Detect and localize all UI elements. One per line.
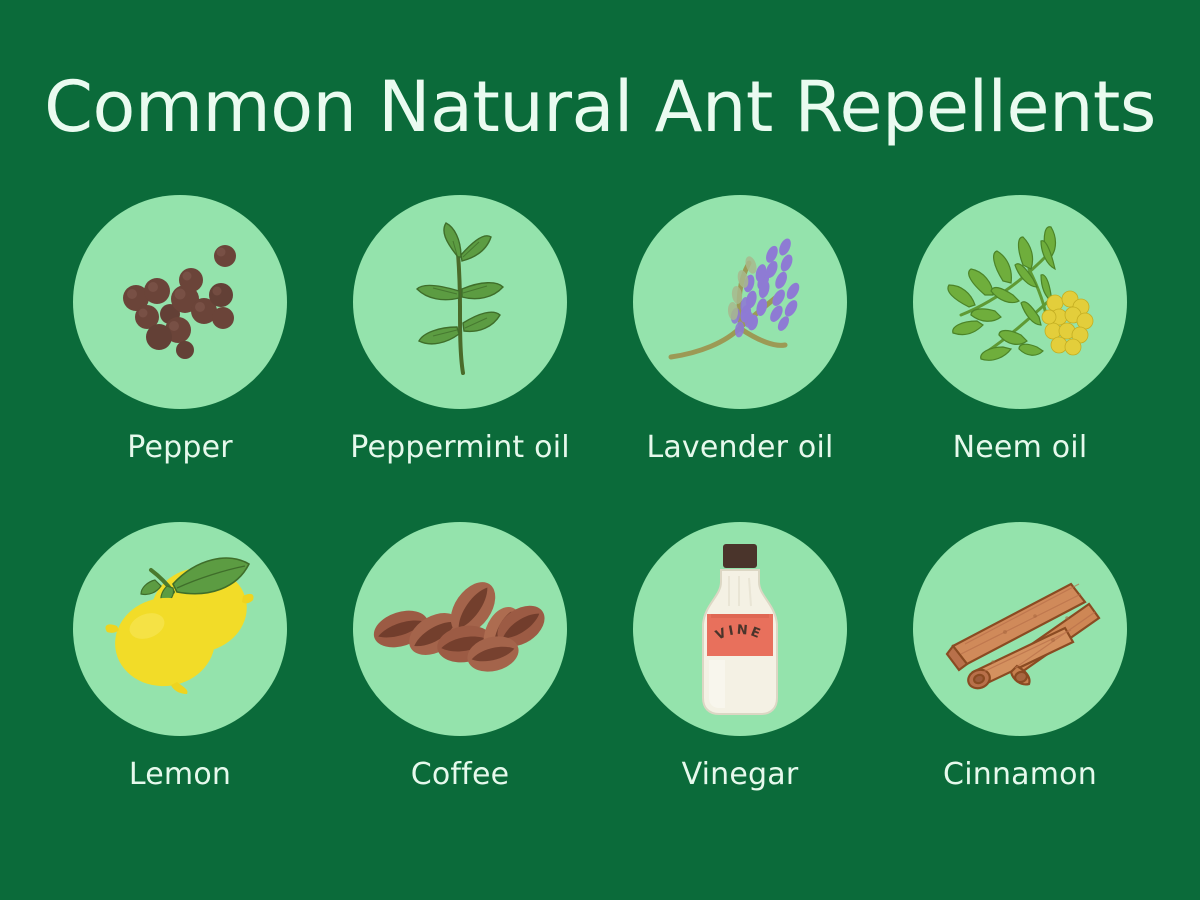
cinnamon-sticks-icon [913,522,1127,736]
repellent-card-pepper[interactable]: Pepper [72,195,288,464]
repellent-card-vinegar[interactable]: VINEGAR Vinegar [632,522,848,791]
repellent-card-peppermint-oil[interactable]: Peppermint oil [352,195,568,464]
mint-sprig-icon [353,195,567,409]
repellent-card-cinnamon[interactable]: Cinnamon [912,522,1128,791]
row-spacer [0,478,1200,522]
repellent-label: Cinnamon [943,758,1097,791]
icon-circle-vinegar: VINEGAR [633,522,847,736]
lemons-icon [73,522,287,736]
coffee-beans-icon [353,522,567,736]
repellent-card-lemon[interactable]: Lemon [72,522,288,791]
repellent-label: Lavender oil [646,431,833,464]
repellent-label: Vinegar [682,758,799,791]
repellent-label: Coffee [411,758,510,791]
icon-circle-coffee [353,522,567,736]
repellent-label: Pepper [127,431,233,464]
repellent-label: Peppermint oil [350,431,570,464]
repellent-card-lavender-oil[interactable]: Lavender oil [632,195,848,464]
repellent-card-neem-oil[interactable]: Neem oil [912,195,1128,464]
infographic-canvas: Common Natural Ant Repellents [0,0,1200,900]
icon-circle-neem-oil [913,195,1127,409]
peppercorns-icon [73,195,287,409]
icon-circle-peppermint-oil [353,195,567,409]
repellents-grid: Pepper [0,195,1200,805]
icon-circle-cinnamon [913,522,1127,736]
neem-branch-icon [913,195,1127,409]
repellents-row-1: Pepper [0,195,1200,464]
page-title: Common Natural Ant Repellents [0,72,1200,142]
vinegar-bottle-icon: VINEGAR [633,522,847,736]
repellent-card-coffee[interactable]: Coffee [352,522,568,791]
icon-circle-lavender-oil [633,195,847,409]
lavender-sprig-icon [633,195,847,409]
icon-circle-lemon [73,522,287,736]
icon-circle-pepper [73,195,287,409]
repellent-label: Neem oil [953,431,1088,464]
repellents-row-2: Lemon [0,522,1200,791]
repellent-label: Lemon [129,758,231,791]
